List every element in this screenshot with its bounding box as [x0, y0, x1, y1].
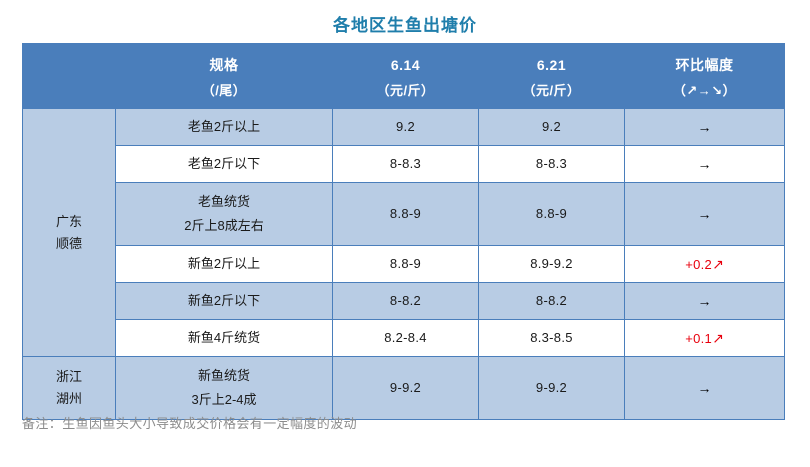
change-value: +0.2	[685, 257, 712, 272]
header-change-line2: （↗→↘）	[625, 78, 784, 104]
price-614-cell: 9-9.2	[333, 357, 479, 420]
price-621-cell: 8.8-9	[479, 183, 625, 246]
page-title: 各地区生鱼出塘价	[0, 16, 810, 36]
header-cell-spec: 规格 （/尾）	[116, 44, 333, 109]
table-row: 老鱼统货 2斤上8成左右 8.8-9 8.8-9 →	[23, 183, 785, 246]
table-row: 老鱼2斤以下 8-8.3 8-8.3 →	[23, 146, 785, 183]
spec-cell: 新鱼2斤以上	[116, 246, 333, 283]
spec-line1: 新鱼2斤以下	[116, 289, 332, 313]
price-614-cell: 9.2	[333, 109, 479, 146]
price-614-cell: 8-8.2	[333, 283, 479, 320]
spec-line1: 新鱼4斤统货	[116, 326, 332, 350]
price-621-cell: 8-8.2	[479, 283, 625, 320]
header-spec-line1: 规格	[116, 48, 332, 78]
change-value: +0.1	[685, 331, 712, 346]
trend-flat-icon: →	[698, 206, 712, 222]
trend-up-icon: ↗	[712, 256, 724, 272]
price-table-container: 规格 （/尾） 6.14 （元/斤） 6.21 （元/斤） 环比幅度 （↗→↘）	[22, 43, 784, 420]
spec-cell: 老鱼2斤以下	[116, 146, 333, 183]
trend-up-icon: ↗	[712, 330, 724, 346]
price-614-cell: 8.8-9	[333, 183, 479, 246]
region-line1: 广东	[23, 211, 115, 233]
header-date2-line1: 6.21	[479, 48, 624, 78]
price-621-cell: 8.3-8.5	[479, 320, 625, 357]
spec-line1: 新鱼2斤以上	[116, 252, 332, 276]
spec-cell: 老鱼2斤以上	[116, 109, 333, 146]
price-table: 规格 （/尾） 6.14 （元/斤） 6.21 （元/斤） 环比幅度 （↗→↘）	[22, 43, 785, 420]
change-cell: →	[625, 183, 785, 246]
header-date1-line2: （元/斤）	[333, 78, 478, 104]
price-614-cell: 8-8.3	[333, 146, 479, 183]
header-date1-line1: 6.14	[333, 48, 478, 78]
table-row: 新鱼2斤以上 8.8-9 8.9-9.2 +0.2↗	[23, 246, 785, 283]
change-cell: →	[625, 109, 785, 146]
table-header-row: 规格 （/尾） 6.14 （元/斤） 6.21 （元/斤） 环比幅度 （↗→↘）	[23, 44, 785, 109]
table-row: 新鱼4斤统货 8.2-8.4 8.3-8.5 +0.1↗	[23, 320, 785, 357]
spec-cell: 新鱼4斤统货	[116, 320, 333, 357]
table-body: 广东 顺德 老鱼2斤以上 9.2 9.2 → 老鱼2斤以下	[23, 109, 785, 420]
header-date2-line2: （元/斤）	[479, 78, 624, 104]
region-cell-guangdong-shunde: 广东 顺德	[23, 109, 116, 357]
price-621-cell: 8.9-9.2	[479, 246, 625, 283]
table-row: 新鱼2斤以下 8-8.2 8-8.2 →	[23, 283, 785, 320]
price-621-cell: 9.2	[479, 109, 625, 146]
header-spec-line2: （/尾）	[116, 78, 332, 104]
price-621-cell: 9-9.2	[479, 357, 625, 420]
spec-line1: 新鱼统货	[116, 364, 332, 388]
change-cell: →	[625, 146, 785, 183]
price-614-cell: 8.2-8.4	[333, 320, 479, 357]
spec-cell: 老鱼统货 2斤上8成左右	[116, 183, 333, 246]
table-row: 浙江 湖州 新鱼统货 3斤上2-4成 9-9.2 9-9.2 →	[23, 357, 785, 420]
change-cell: +0.1↗	[625, 320, 785, 357]
region-line2: 湖州	[23, 388, 115, 410]
spec-line1: 老鱼统货	[116, 190, 332, 214]
header-cell-change: 环比幅度 （↗→↘）	[625, 44, 785, 109]
region-cell-zhejiang-huzhou: 浙江 湖州	[23, 357, 116, 420]
spec-line1: 老鱼2斤以上	[116, 115, 332, 139]
spec-line2: 2斤上8成左右	[116, 214, 332, 238]
header-cell-date-621: 6.21 （元/斤）	[479, 44, 625, 109]
trend-flat-icon: →	[698, 380, 712, 396]
change-cell: +0.2↗	[625, 246, 785, 283]
change-cell: →	[625, 357, 785, 420]
table-row: 广东 顺德 老鱼2斤以上 9.2 9.2 →	[23, 109, 785, 146]
change-cell: →	[625, 283, 785, 320]
header-change-line1: 环比幅度	[625, 48, 784, 78]
price-621-cell: 8-8.3	[479, 146, 625, 183]
header-cell-date-614: 6.14 （元/斤）	[333, 44, 479, 109]
spec-line2: 3斤上2-4成	[116, 388, 332, 412]
spec-cell: 新鱼2斤以下	[116, 283, 333, 320]
trend-flat-icon: →	[698, 293, 712, 309]
region-line2: 顺德	[23, 233, 115, 255]
footnote: 备注：生鱼因鱼头大小导致成交价格会有一定幅度的波动	[22, 414, 357, 434]
trend-flat-icon: →	[698, 156, 712, 172]
region-line1: 浙江	[23, 366, 115, 388]
header-cell-region	[23, 44, 116, 109]
spec-cell: 新鱼统货 3斤上2-4成	[116, 357, 333, 420]
price-614-cell: 8.8-9	[333, 246, 479, 283]
price-table-page: 各地区生鱼出塘价 规格 （/尾） 6.14 （元	[0, 0, 810, 467]
table-head: 规格 （/尾） 6.14 （元/斤） 6.21 （元/斤） 环比幅度 （↗→↘）	[23, 44, 785, 109]
trend-flat-icon: →	[698, 119, 712, 135]
spec-line1: 老鱼2斤以下	[116, 152, 332, 176]
